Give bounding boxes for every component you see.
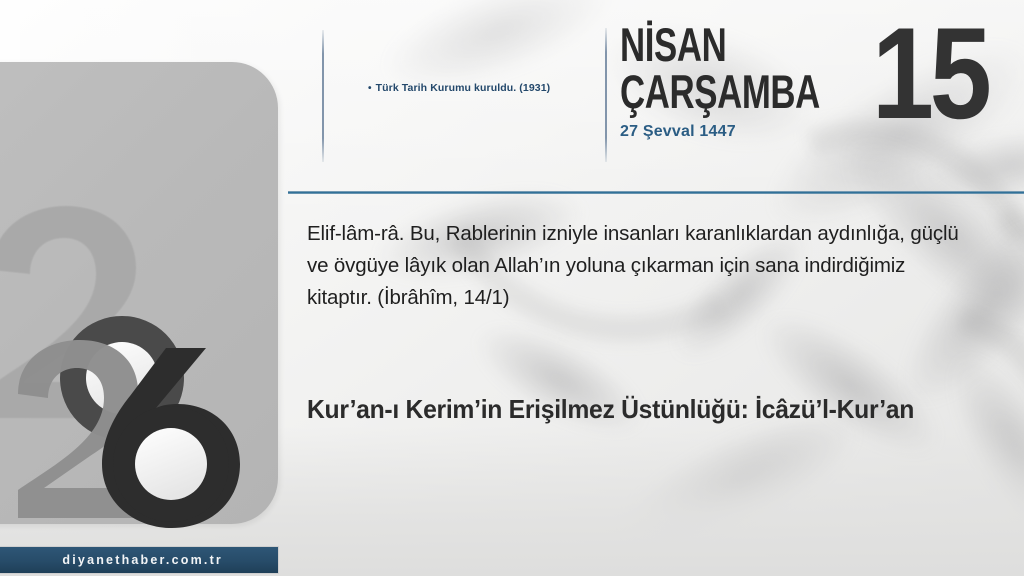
article-headline: Kur’an-ı Kerim’in Erişilmez Üstünlüğü: İ… [307,392,915,426]
weekday-label: ÇARŞAMBA [620,69,812,114]
website-url: diyanethaber.com.tr [62,553,223,567]
historical-note: •Türk Tarih Kurumu kuruldu. (1931) [368,82,588,96]
vertical-divider-note [322,30,324,162]
hijri-date-label: 27 Şevval 1447 [620,123,880,141]
calendar-page: •Türk Tarih Kurumu kuruldu. (1931) NİSAN… [0,0,1024,576]
day-number: 15 [872,8,988,138]
year-2026-logo [0,182,240,532]
vertical-divider-date [605,28,607,162]
date-block: NİSAN ÇARŞAMBA 27 Şevval 1447 [620,22,880,141]
bullet-icon: • [368,82,372,95]
verse-text: Elif-lâm-râ. Bu, Rablerinin izniyle insa… [307,218,967,313]
historical-note-text: Türk Tarih Kurumu kuruldu. (1931) [376,82,551,94]
horizontal-rule [288,191,1024,194]
year-panel [0,62,278,524]
footer-bar: diyanethaber.com.tr [0,546,279,574]
month-label: NİSAN [620,22,812,67]
